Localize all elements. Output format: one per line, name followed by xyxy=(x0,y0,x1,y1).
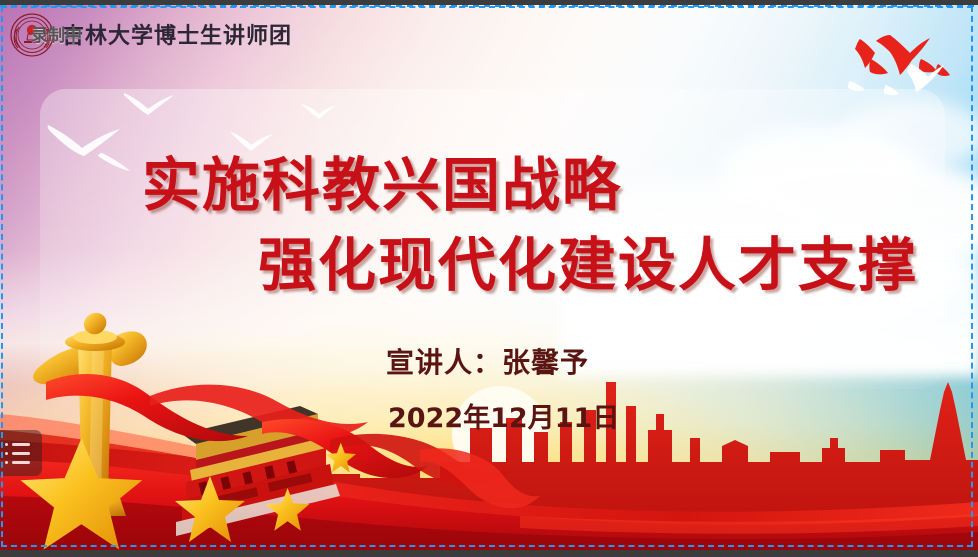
list-dot-icon xyxy=(5,461,8,464)
list-bar-icon xyxy=(12,452,30,455)
list-row xyxy=(5,452,42,455)
list-dot-icon xyxy=(5,443,8,446)
list-bar-icon xyxy=(12,443,30,446)
window-bottom-band xyxy=(0,550,978,557)
seagull-icon xyxy=(120,83,190,123)
list-bar-icon xyxy=(12,461,30,464)
organization-title: 吉林大学博士生讲师团 xyxy=(62,18,292,50)
list-row xyxy=(5,461,42,464)
header-bar: 录制中 吉林大学博士生讲师团 xyxy=(0,5,978,61)
window-top-band xyxy=(0,0,978,5)
slide-title-line-1: 实施科教兴国战略 xyxy=(142,138,622,222)
slide-date: 2022年12月11日 xyxy=(388,396,619,435)
list-row xyxy=(5,443,42,446)
recording-window: 录制中 吉林大学博士生讲师团 实施科教兴国战略 强化现代化建设人才支撑 宣讲人：… xyxy=(0,0,978,557)
slide-title-line-2: 强化现代化建设人才支撑 xyxy=(258,218,918,302)
slide-speaker: 宣讲人：张馨予 xyxy=(386,341,589,381)
list-menu-button[interactable] xyxy=(0,430,42,476)
list-dot-icon xyxy=(5,452,8,455)
slide-stage: 录制中 吉林大学博士生讲师团 实施科教兴国战略 强化现代化建设人才支撑 宣讲人：… xyxy=(0,5,978,550)
recording-badge: 录制中 xyxy=(31,21,82,46)
seagull-icon xyxy=(300,97,344,123)
